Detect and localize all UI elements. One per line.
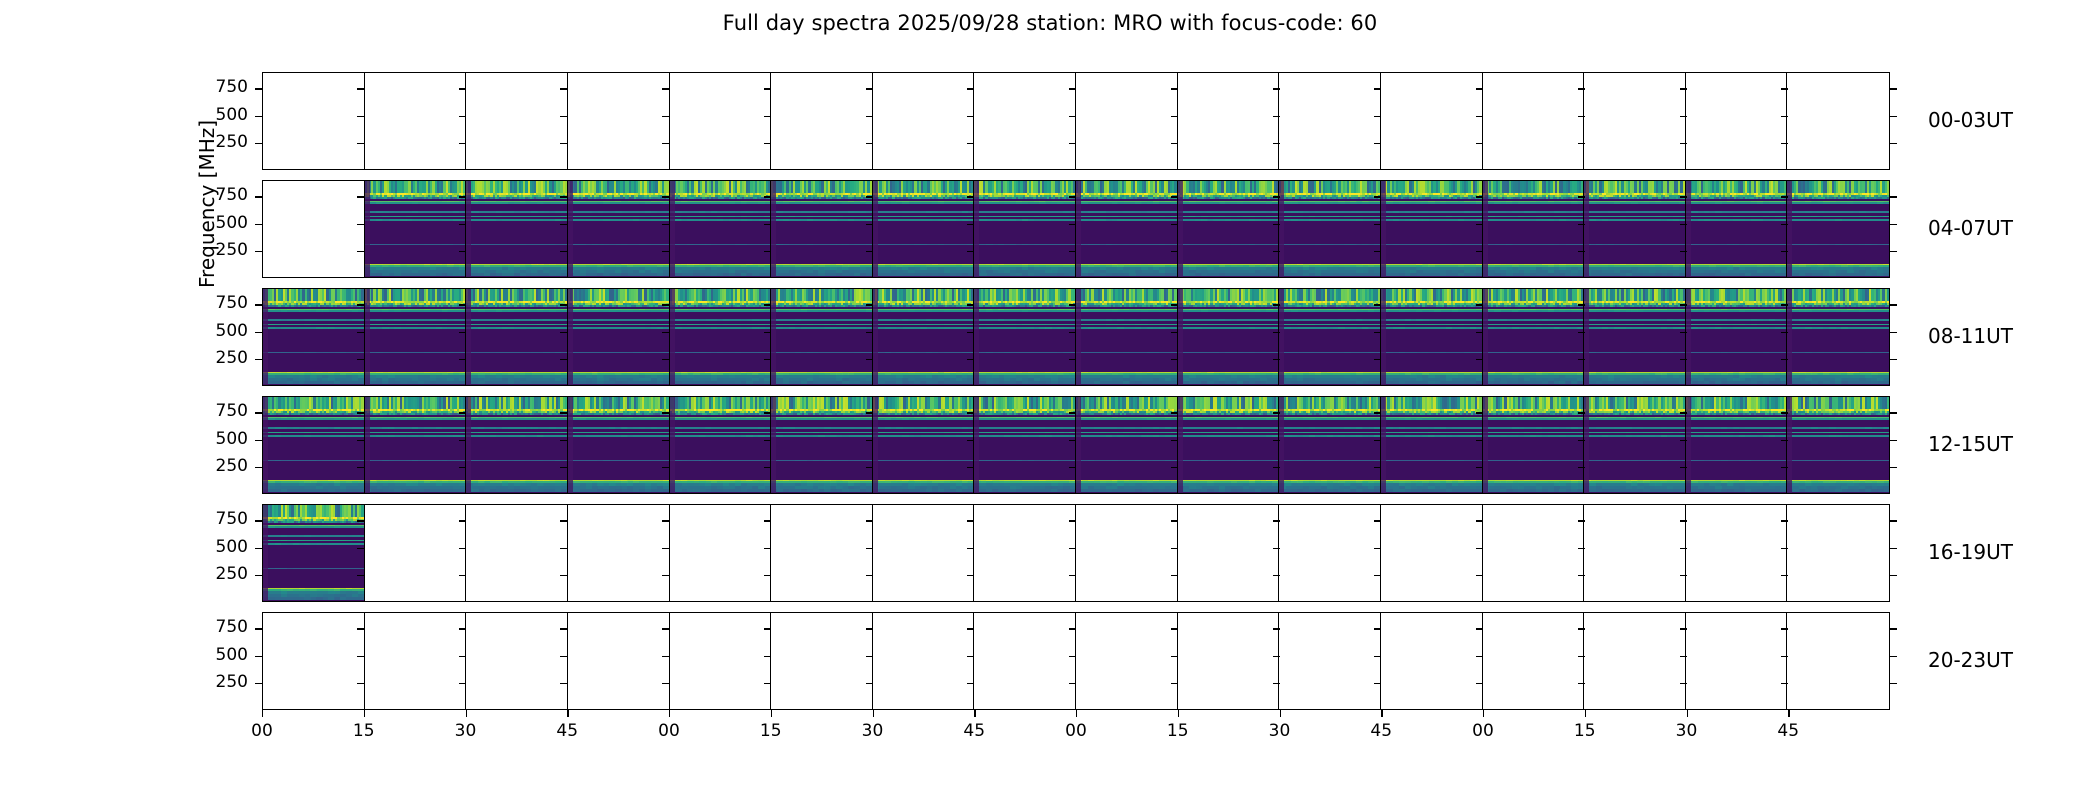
panel-inner-tick [1680,116,1687,117]
panel-inner-tick [1781,548,1788,549]
panel-inner-tick [1680,88,1687,89]
panel-inner-tick [1171,575,1178,576]
time-block [1483,505,1585,601]
panel-inner-tick [1069,467,1076,468]
panel-inner-tick [967,251,974,252]
panel-inner-tick [1069,628,1076,629]
panel-inner-tick [1374,143,1381,144]
y-tick-label: 750 [192,77,248,97]
panel-inner-tick [1069,116,1076,117]
y-tick-label: 250 [192,348,248,368]
panel-inner-tick [459,88,466,89]
panel-inner-tick [357,359,364,360]
time-block [1787,289,1889,385]
panel-inner-tick [1680,548,1687,549]
panel-inner-tick [1476,196,1483,197]
panel-inner-tick [866,304,873,305]
spectrogram-row-16-19ut [262,504,1890,602]
spectrogram-tile [1178,397,1279,493]
panel-inner-tick [662,440,669,441]
time-block [365,181,467,277]
panel-inner-tick [1476,656,1483,657]
panel-inner-tick [764,628,771,629]
spectrogram-tile [568,289,669,385]
panel-inner-tick [1273,251,1280,252]
x-tick-mark [262,710,263,717]
y-tick-mark [255,520,262,521]
spectrogram-tile [466,289,567,385]
panel-inner-tick [764,88,771,89]
row-time-label: 16-19UT [1928,540,2013,564]
y-tick-label: 750 [192,509,248,529]
panel-inner-tick [1680,332,1687,333]
panel-inner-tick [1781,575,1788,576]
panel-inner-tick [1476,412,1483,413]
panel-inner-tick [967,143,974,144]
panel-inner-tick [357,628,364,629]
spectrogram-tile [670,397,771,493]
panel-inner-tick [1476,332,1483,333]
panel-inner-tick [1171,143,1178,144]
panel-inner-tick [560,359,567,360]
spectrogram-tile [873,181,974,277]
panel-inner-tick [1069,683,1076,684]
time-block [1076,73,1178,169]
time-block [365,73,467,169]
panel-inner-tick [1374,520,1381,521]
panel-inner-tick [1578,440,1585,441]
time-block [1584,181,1686,277]
time-block [771,289,873,385]
panel-inner-tick [1680,224,1687,225]
panel-inner-tick [662,116,669,117]
panel-inner-tick [459,116,466,117]
x-tick-mark [1381,710,1382,717]
time-block [1686,289,1788,385]
panel-inner-tick [1171,628,1178,629]
x-tick-mark [1687,710,1688,717]
panel-inner-tick [1578,683,1585,684]
spectrogram-tile [1584,289,1685,385]
time-block [1787,613,1889,709]
panel-inner-tick [560,196,567,197]
x-tick-mark [1483,710,1484,717]
y-tick-mark [255,116,262,117]
time-block [568,73,670,169]
panel-inner-tick [1680,683,1687,684]
panel-inner-tick [1476,440,1483,441]
panel-inner-tick [662,88,669,89]
time-block [1279,289,1381,385]
y-tick-label: 500 [192,429,248,449]
spectrogram-tile [1686,397,1787,493]
panel-inner-tick [459,520,466,521]
y-tick-mark [255,548,262,549]
time-block [365,289,467,385]
panel-inner-tick [459,251,466,252]
panel-inner-tick [1680,304,1687,305]
panel-inner-tick [357,196,364,197]
panel-inner-tick [357,143,364,144]
x-tick-mark [364,710,365,717]
time-block [771,73,873,169]
panel-inner-tick [357,224,364,225]
panel-inner-tick [1171,116,1178,117]
time-block [263,505,365,601]
panel-inner-tick [1273,520,1280,521]
panel-inner-tick [1680,196,1687,197]
x-tick-label: 00 [639,721,699,741]
y-tick-mark [255,224,262,225]
panel-inner-tick [357,656,364,657]
panel-inner-tick [560,683,567,684]
panel-inner-tick [662,628,669,629]
x-tick-label: 00 [1046,721,1106,741]
panel-inner-tick [1374,196,1381,197]
spectrogram-tile [263,505,364,601]
panel-inner-tick [866,575,873,576]
panel-inner-tick [1781,224,1788,225]
spectrogram-tile [873,397,974,493]
x-tick-label: 15 [741,721,801,741]
panel-inner-tick [967,304,974,305]
spectrogram-tile [1279,289,1380,385]
panel-inner-tick [1069,440,1076,441]
spectrogram-row-04-07ut [262,180,1890,278]
spectrogram-tile [873,289,974,385]
panel-inner-tick [1781,332,1788,333]
time-block [1381,613,1483,709]
panel-inner-tick [1781,359,1788,360]
panel-inner-tick [1171,332,1178,333]
y-tick-mark [255,196,262,197]
panel-inner-tick [764,548,771,549]
panel-inner-tick [1374,412,1381,413]
panel-inner-tick [560,467,567,468]
panel-inner-tick [866,88,873,89]
spectrogram-tile [1686,181,1787,277]
time-block [1686,73,1788,169]
panel-inner-tick [764,196,771,197]
panel-inner-tick [662,332,669,333]
panel-inner-tick [1578,412,1585,413]
panel-inner-tick [764,440,771,441]
time-block [974,397,1076,493]
panel-inner-tick [1374,332,1381,333]
panel-inner-tick [866,332,873,333]
x-tick-label: 45 [1351,721,1411,741]
panel-inner-tick [1273,88,1280,89]
page-title: Full day spectra 2025/09/28 station: MRO… [0,11,2100,35]
panel-inner-tick [1374,656,1381,657]
panel-inner-tick [1781,116,1788,117]
panel-inner-tick [1374,440,1381,441]
panel-inner-tick [1069,143,1076,144]
row-panel [262,72,1890,170]
y-tick-mark [1890,467,1897,468]
panel-inner-tick [662,412,669,413]
panel-inner-tick [1374,467,1381,468]
panel-inner-tick [866,628,873,629]
time-block [1381,181,1483,277]
panel-inner-tick [357,332,364,333]
panel-inner-tick [1781,304,1788,305]
panel-inner-tick [967,224,974,225]
time-block [466,397,568,493]
panel-inner-tick [1273,467,1280,468]
panel-inner-tick [1171,656,1178,657]
panel-inner-tick [1069,88,1076,89]
spectrogram-tile [1483,397,1584,493]
y-tick-mark [1890,116,1897,117]
panel-inner-tick [1273,412,1280,413]
y-tick-label: 500 [192,537,248,557]
time-block [1584,397,1686,493]
time-block [466,181,568,277]
panel-inner-tick [1069,412,1076,413]
row-panel [262,504,1890,602]
row-time-label: 08-11UT [1928,324,2013,348]
panel-inner-tick [1171,224,1178,225]
panel-inner-tick [1680,656,1687,657]
time-block [1584,613,1686,709]
spectrogram-figure: Full day spectra 2025/09/28 station: MRO… [0,0,2100,800]
x-tick-label: 45 [944,721,1004,741]
panel-inner-tick [1578,304,1585,305]
panel-inner-tick [1476,224,1483,225]
panel-inner-tick [1171,196,1178,197]
panel-inner-tick [1476,467,1483,468]
panel-inner-tick [1781,520,1788,521]
time-block [1483,397,1585,493]
time-block [771,397,873,493]
spectrogram-tile [1381,289,1482,385]
time-block [1381,505,1483,601]
panel-inner-tick [1476,304,1483,305]
time-block [771,181,873,277]
time-block [263,181,365,277]
y-tick-label: 500 [192,105,248,125]
panel-inner-tick [1171,359,1178,360]
panel-inner-tick [662,359,669,360]
spectrogram-tile [771,397,872,493]
panel-inner-tick [764,304,771,305]
y-tick-mark [255,143,262,144]
spectrogram-row-00-03ut [262,72,1890,170]
panel-inner-tick [1476,143,1483,144]
time-block [974,181,1076,277]
time-block [568,505,670,601]
spectrogram-tile [1787,181,1889,277]
time-block [1279,505,1381,601]
panel-inner-tick [866,224,873,225]
panel-inner-tick [967,88,974,89]
time-block [1279,73,1381,169]
time-block [466,505,568,601]
panel-inner-tick [764,683,771,684]
panel-inner-tick [1578,656,1585,657]
y-tick-mark [1890,520,1897,521]
time-block [974,289,1076,385]
time-block [1686,613,1788,709]
time-block [466,613,568,709]
panel-inner-tick [1273,224,1280,225]
time-block [1686,505,1788,601]
panel-inner-tick [866,467,873,468]
panel-inner-tick [967,548,974,549]
y-tick-mark [255,628,262,629]
y-tick-mark [1890,251,1897,252]
time-block [873,613,975,709]
panel-inner-tick [459,467,466,468]
time-block [1483,289,1585,385]
panel-inner-tick [1476,575,1483,576]
panel-inner-tick [560,251,567,252]
spectrogram-tile [1787,397,1889,493]
panel-inner-tick [1069,196,1076,197]
spectrogram-tile [1584,397,1685,493]
time-block [263,289,365,385]
panel-inner-tick [1781,656,1788,657]
panel-inner-tick [560,575,567,576]
time-block [670,505,772,601]
panel-inner-tick [1781,251,1788,252]
y-tick-mark [255,575,262,576]
y-tick-mark [1890,304,1897,305]
time-block [1787,73,1889,169]
panel-inner-tick [764,359,771,360]
spectrogram-tile [568,397,669,493]
panel-inner-tick [1374,224,1381,225]
panel-inner-tick [357,520,364,521]
time-block [1787,181,1889,277]
panel-inner-tick [459,628,466,629]
row-time-label: 20-23UT [1928,648,2013,672]
spectrogram-tile [974,289,1075,385]
panel-inner-tick [1171,520,1178,521]
panel-inner-tick [1680,467,1687,468]
panel-inner-tick [764,412,771,413]
panel-inner-tick [1374,88,1381,89]
panel-inner-tick [1069,304,1076,305]
spectrogram-tile [1686,289,1787,385]
time-block [1279,181,1381,277]
panel-inner-tick [459,575,466,576]
x-tick-label: 15 [1148,721,1208,741]
panel-inner-tick [1680,412,1687,413]
panel-inner-tick [560,440,567,441]
panel-inner-tick [1781,467,1788,468]
panel-inner-tick [1171,88,1178,89]
time-block [974,505,1076,601]
spectrogram-row-20-23ut [262,612,1890,710]
panel-inner-tick [1578,548,1585,549]
y-tick-mark [255,304,262,305]
y-tick-mark [255,440,262,441]
panel-inner-tick [1578,224,1585,225]
y-tick-label: 750 [192,401,248,421]
spectrogram-tile [974,397,1075,493]
panel-inner-tick [662,251,669,252]
spectrogram-tile [466,181,567,277]
x-tick-label: 45 [537,721,597,741]
time-block [568,397,670,493]
panel-inner-tick [967,467,974,468]
panel-inner-tick [1578,88,1585,89]
y-tick-label: 250 [192,672,248,692]
panel-inner-tick [459,196,466,197]
panel-inner-tick [1578,332,1585,333]
panel-inner-tick [560,304,567,305]
panel-inner-tick [1680,575,1687,576]
x-tick-label: 30 [436,721,496,741]
panel-inner-tick [1578,143,1585,144]
panel-inner-tick [459,440,466,441]
y-tick-mark [255,412,262,413]
panel-inner-tick [866,548,873,549]
time-block [1279,397,1381,493]
panel-inner-tick [764,467,771,468]
time-block [1686,181,1788,277]
panel-inner-tick [1578,116,1585,117]
y-tick-mark [1890,656,1897,657]
row-panel [262,612,1890,710]
panel-inner-tick [560,520,567,521]
panel-inner-tick [1476,628,1483,629]
panel-inner-tick [764,332,771,333]
row-panel [262,288,1890,386]
panel-inner-tick [560,412,567,413]
panel-inner-tick [1171,683,1178,684]
panel-inner-tick [1171,548,1178,549]
panel-inner-tick [1069,575,1076,576]
panel-inner-tick [357,548,364,549]
panel-inner-tick [764,251,771,252]
panel-inner-tick [1781,412,1788,413]
panel-inner-tick [967,332,974,333]
time-block [1076,505,1178,601]
row-time-label: 00-03UT [1928,108,2013,132]
panel-inner-tick [459,656,466,657]
y-tick-label: 500 [192,213,248,233]
time-block [771,613,873,709]
panel-inner-tick [1273,683,1280,684]
x-tick-mark [1788,710,1789,717]
spectrogram-tile [1584,181,1685,277]
time-block [263,613,365,709]
time-block [670,613,772,709]
time-block [1076,613,1178,709]
y-tick-label: 250 [192,132,248,152]
time-block [1178,505,1280,601]
spectrogram-tile [263,289,364,385]
x-tick-mark [1280,710,1281,717]
time-block [873,505,975,601]
panel-inner-tick [662,143,669,144]
panel-inner-tick [357,412,364,413]
time-block [568,613,670,709]
time-block [466,73,568,169]
y-tick-mark [255,332,262,333]
x-tick-mark [1178,710,1179,717]
panel-inner-tick [1273,304,1280,305]
panel-inner-tick [560,143,567,144]
panel-inner-tick [357,116,364,117]
panel-inner-tick [662,196,669,197]
time-block [365,397,467,493]
panel-inner-tick [560,224,567,225]
panel-inner-tick [1069,520,1076,521]
